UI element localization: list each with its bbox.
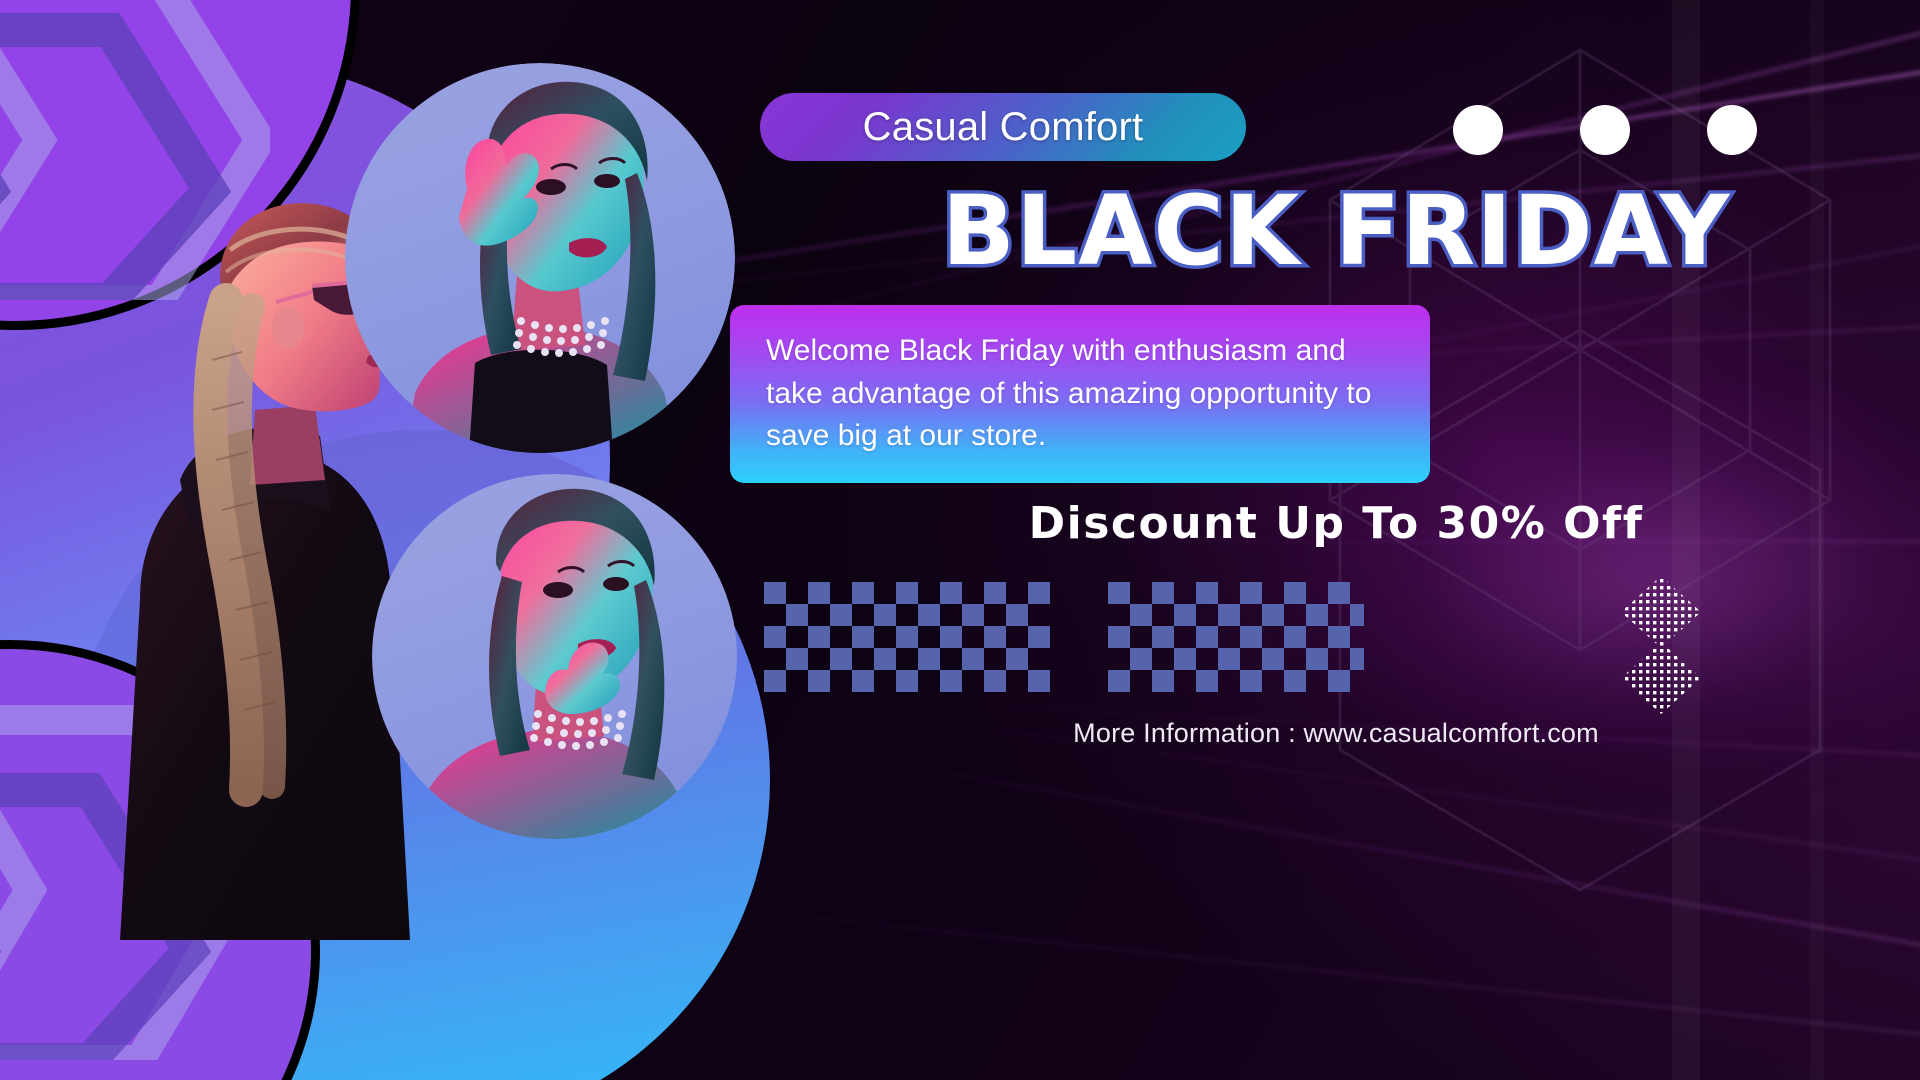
black-friday-poster: Casual Comfort BLACK FRIDAY Welcome Blac…: [0, 0, 1920, 1080]
footer-info: More Information : www.casualcomfort.com: [756, 718, 1916, 749]
content-column: Casual Comfort BLACK FRIDAY Welcome Blac…: [756, 0, 1920, 1080]
left-decoration-group: [0, 0, 820, 1080]
checkerboard-block-1: [764, 582, 1064, 692]
dotted-diamond-decoration: [1616, 570, 1706, 720]
checkerboard-block-2: [1108, 582, 1364, 692]
brand-badge[interactable]: Casual Comfort: [760, 93, 1246, 161]
model-portrait-top: [345, 63, 735, 453]
checkerboard-decoration-group: [764, 582, 1364, 692]
dot-icon-1: [1453, 105, 1503, 155]
brand-label: Casual Comfort: [863, 105, 1144, 150]
description-text: Welcome Black Friday with enthusiasm and…: [730, 330, 1430, 458]
page-title: BLACK FRIDAY: [756, 183, 1916, 279]
description-panel: Welcome Black Friday with enthusiasm and…: [730, 305, 1430, 483]
discount-headline: Discount Up To 30% Off: [756, 498, 1916, 549]
dot-icon-3: [1707, 105, 1757, 155]
dot-decoration-group: [1453, 105, 1757, 155]
dot-icon-2: [1580, 105, 1630, 155]
model-portrait-bottom: [372, 474, 737, 839]
